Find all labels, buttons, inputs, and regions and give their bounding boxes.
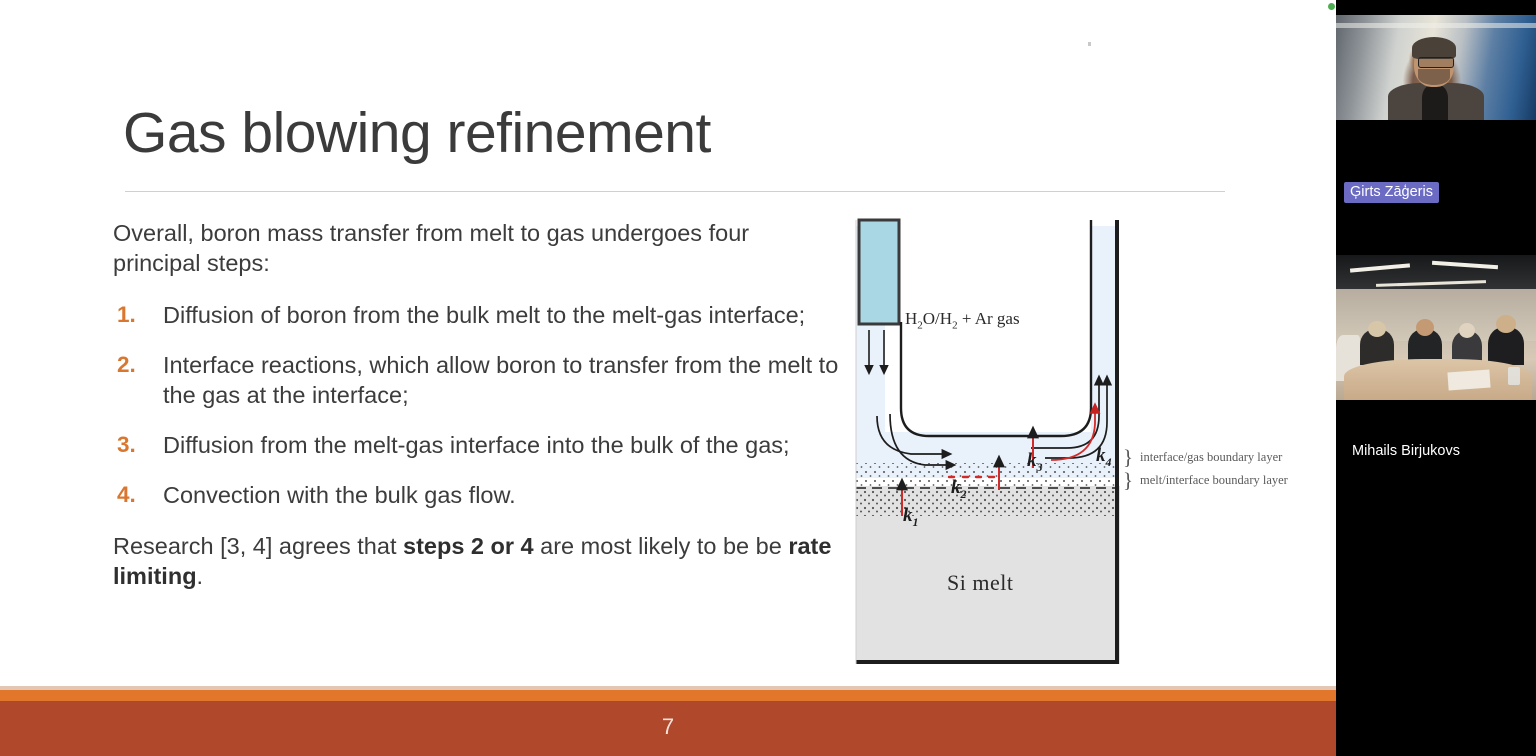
- list-marker: 4.: [113, 480, 163, 509]
- list-item-label: Diffusion of boron from the bulk melt to…: [163, 300, 843, 330]
- participant-tile[interactable]: Mihails Birjukovs: [1336, 255, 1536, 485]
- glasses-icon: [1418, 57, 1454, 68]
- closing-bold-1: steps 2 or 4: [403, 533, 534, 559]
- k2-base: k: [951, 477, 961, 498]
- list-item: 2. Interface reactions, which allow boro…: [113, 350, 843, 410]
- participant-tile[interactable]: Ģirts Zāģeris: [1336, 0, 1536, 255]
- list-item-label: Diffusion from the melt-gas interface in…: [163, 430, 843, 460]
- brace-icon: }: [1123, 447, 1136, 468]
- k1-rate-label: k1: [903, 505, 919, 530]
- participant-name-label: Mihails Birjukovs: [1352, 443, 1460, 459]
- intro-paragraph: Overall, boron mass transfer from melt t…: [113, 218, 843, 278]
- closing-paragraph: Research [3, 4] agrees that steps 2 or 4…: [113, 531, 843, 591]
- drinking-glass: [1508, 367, 1520, 385]
- recording-status-dot: [1328, 3, 1335, 10]
- gas-composition-label: H2O/H2 + Ar gas: [905, 309, 1020, 331]
- person-head: [1496, 315, 1516, 333]
- boundary-layer-row: } melt/interface boundary layer: [1123, 469, 1323, 492]
- k1-sub: 1: [913, 515, 919, 529]
- boundary-layer-label: interface/gas boundary layer: [1136, 450, 1282, 465]
- list-item-label: Interface reactions, which allow boron t…: [163, 350, 843, 410]
- k4-sub: 4: [1106, 455, 1112, 469]
- footer-accent-stripe: [0, 690, 1336, 701]
- participant-name-badge: Ģirts Zāģeris: [1344, 182, 1439, 203]
- gas-label-b: O/H: [923, 309, 952, 328]
- title-divider: [125, 191, 1225, 192]
- page-number: 7: [0, 714, 1336, 740]
- participant-video-feed[interactable]: [1336, 255, 1536, 400]
- k3-rate-label: k3: [1027, 450, 1043, 475]
- k2-sub: 2: [961, 487, 967, 501]
- k1-base: k: [903, 505, 913, 526]
- list-item: 1. Diffusion of boron from the bulk melt…: [113, 300, 843, 330]
- list-item: 3. Diffusion from the melt-gas interface…: [113, 430, 843, 460]
- list-item: 4. Convection with the bulk gas flow.: [113, 480, 843, 510]
- list-marker: 2.: [113, 350, 163, 379]
- stray-artifact-dot: [1088, 42, 1091, 46]
- person-hair: [1412, 37, 1456, 59]
- person-head: [1416, 319, 1434, 336]
- brace-icon: }: [1123, 470, 1136, 491]
- background-light: [1336, 23, 1536, 28]
- closing-text-1: Research [3, 4] agrees that: [113, 533, 403, 559]
- k4-base: k: [1096, 445, 1106, 466]
- list-marker: 3.: [113, 430, 163, 459]
- k4-rate-label: k4: [1096, 445, 1112, 470]
- closing-text-2: are most likely to be be: [534, 533, 789, 559]
- slide-body: Overall, boron mass transfer from melt t…: [113, 218, 843, 591]
- list-item-label: Convection with the bulk gas flow.: [163, 480, 843, 510]
- numbered-steps-list: 1. Diffusion of boron from the bulk melt…: [113, 300, 843, 510]
- person-head: [1459, 323, 1475, 338]
- closing-text-3: .: [197, 563, 204, 589]
- gas-label-c: + Ar gas: [958, 309, 1020, 328]
- boundary-layer-annotations: } interface/gas boundary layer } melt/in…: [1123, 446, 1323, 492]
- person-shirt: [1422, 85, 1448, 120]
- k3-sub: 3: [1037, 460, 1043, 474]
- video-participant-rail: Ģirts Zāģeris Mihails Birjukovs: [1336, 0, 1536, 756]
- gas-blowing-diagram: H2O/H2 + Ar gas Si melt k1 k2 k3 k4: [855, 218, 1123, 665]
- paper-sheet: [1447, 370, 1490, 391]
- person-head: [1368, 321, 1386, 337]
- person-beard: [1418, 69, 1450, 85]
- k2-rate-label: k2: [951, 477, 967, 502]
- k3-base: k: [1027, 450, 1037, 471]
- list-marker: 1.: [113, 300, 163, 329]
- diagram-svg: [855, 218, 1123, 665]
- gas-label-a: H: [905, 309, 917, 328]
- participant-video-feed[interactable]: [1336, 15, 1536, 120]
- boundary-layer-row: } interface/gas boundary layer: [1123, 446, 1323, 469]
- meeting-table: [1344, 359, 1532, 400]
- si-melt-label: Si melt: [947, 570, 1013, 596]
- boundary-layer-label: melt/interface boundary layer: [1136, 473, 1288, 488]
- presentation-slide: Gas blowing refinement Overall, boron ma…: [0, 0, 1336, 756]
- page-title: Gas blowing refinement: [123, 104, 711, 164]
